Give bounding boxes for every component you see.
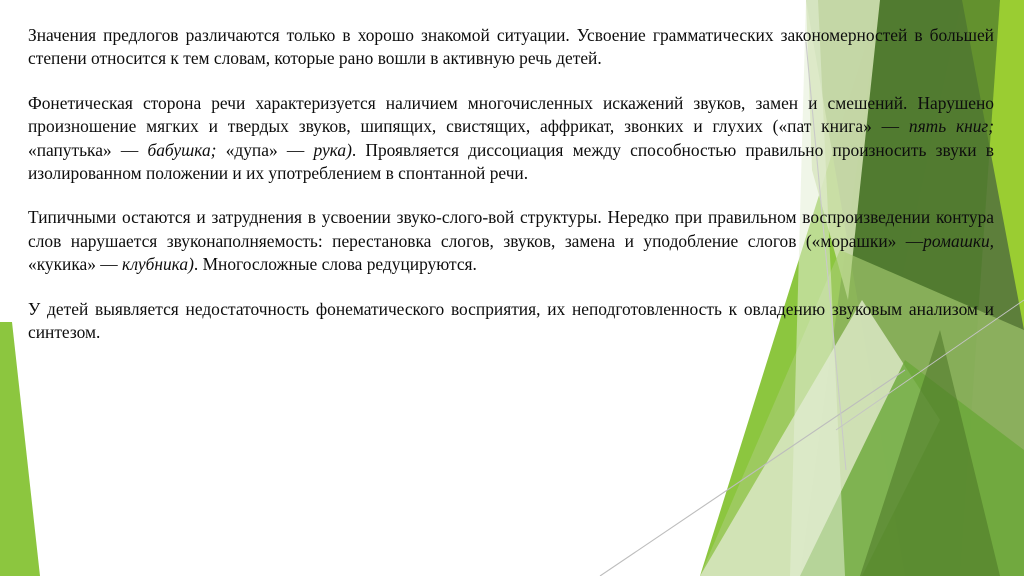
shape-left-lime-wedge bbox=[0, 322, 40, 576]
paragraph-2: Фонетическая сторона речи характеризуетс… bbox=[28, 92, 994, 186]
hairline-diagonal-long bbox=[600, 370, 905, 576]
p3-run-5: . Многосложные слова редуцируются. bbox=[194, 254, 477, 274]
p2-run-5: «дупа» — bbox=[216, 140, 313, 160]
slide-canvas: Значения предлогов различаются только в … bbox=[0, 0, 1024, 576]
p2-run-6-italic: рука) bbox=[313, 140, 351, 160]
paragraph-1: Значения предлогов различаются только в … bbox=[28, 24, 994, 71]
p3-run-1: Типичными остаются и затруднения в усвое… bbox=[28, 207, 994, 250]
p2-run-3: «папутька» — bbox=[28, 140, 147, 160]
p2-run-2-italic: пять книг; bbox=[909, 116, 994, 136]
p2-run-1: Фонетическая сторона речи характеризуетс… bbox=[28, 93, 994, 136]
paragraph-3: Типичными остаются и затруднения в усвое… bbox=[28, 206, 994, 276]
p3-run-3: «кукика» — bbox=[28, 254, 122, 274]
p1-run-1: Значения предлогов различаются только в … bbox=[28, 25, 994, 68]
paragraph-4: У детей выявляется недостаточность фонем… bbox=[28, 298, 994, 345]
shape-medium-green-bottom bbox=[800, 360, 1024, 576]
p2-run-4-italic: бабушка; bbox=[147, 140, 216, 160]
slide-text-body: Значения предлогов различаются только в … bbox=[28, 24, 994, 344]
p3-run-2-italic: ромашки, bbox=[923, 231, 994, 251]
shape-deep-spike-bottom bbox=[860, 330, 1000, 576]
p3-run-4-italic: клубника) bbox=[122, 254, 194, 274]
p4-run-1: У детей выявляется недостаточность фонем… bbox=[28, 299, 994, 342]
